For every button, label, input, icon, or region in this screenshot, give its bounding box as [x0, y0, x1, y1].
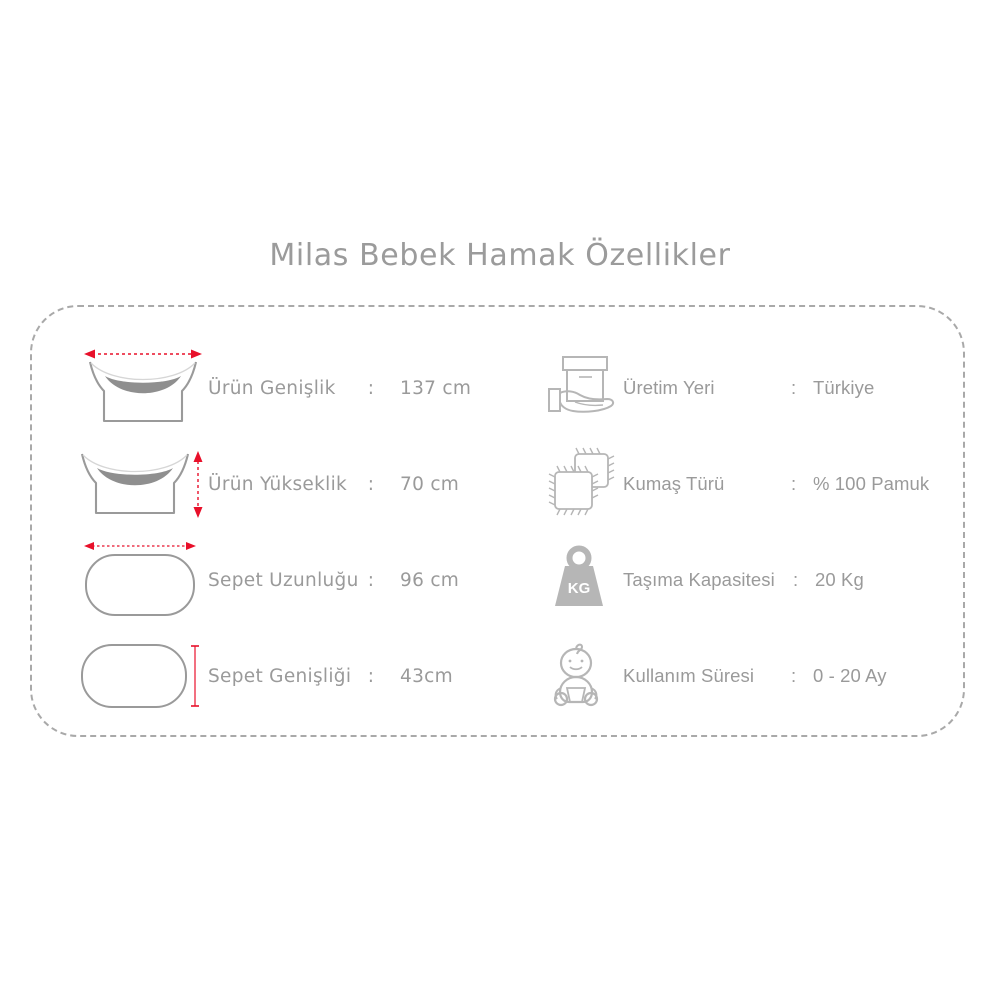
spec-separator: : [791, 377, 807, 399]
baby-icon [545, 636, 623, 716]
spec-text-kullanim-suresi: Kullanım Süresi : 0 - 20 Ay [623, 665, 887, 687]
spec-separator: : [360, 378, 382, 399]
spec-text-urun-yukseklik: Ürün Yükseklik : 70 cm [208, 474, 459, 495]
hammock-height-icon [78, 441, 208, 527]
spec-text-urun-genislik: Ürün Genişlik : 137 cm [208, 378, 471, 399]
spec-label: Ürün Yükseklik [208, 474, 360, 495]
spec-separator: : [360, 474, 382, 495]
spec-value: 137 cm [382, 378, 471, 399]
spec-value: % 100 Pamuk [807, 473, 929, 495]
spec-separator: : [360, 570, 382, 591]
spec-text-kumas-turu: Kumaş Türü : % 100 Pamuk [623, 473, 929, 495]
spec-label: Üretim Yeri [623, 377, 791, 399]
weight-kg-icon: KG [545, 540, 623, 620]
spec-value: 0 - 20 Ay [807, 665, 887, 687]
spec-text-sepet-uzunlugu: Sepet Uzunluğu : 96 cm [208, 570, 459, 591]
spec-separator: : [793, 569, 809, 591]
spec-label: Taşıma Kapasitesi [623, 569, 793, 591]
spec-column-right: Üretim Yeri : Türkiye [545, 340, 965, 724]
spec-separator: : [791, 473, 807, 495]
spec-row-tasima-kapasitesi: KG Taşıma Kapasitesi : 20 Kg [545, 532, 965, 628]
spec-label: Kumaş Türü [623, 473, 791, 495]
spec-text-tasima-kapasitesi: Taşıma Kapasitesi : 20 Kg [623, 569, 864, 591]
spec-separator: : [791, 665, 807, 687]
spec-row-urun-genislik: Ürün Genişlik : 137 cm [78, 340, 508, 436]
spec-text-sepet-genisligi: Sepet Genişliği : 43cm [208, 666, 453, 687]
page-title: Milas Bebek Hamak Özellikler [0, 238, 1000, 273]
spec-row-sepet-uzunlugu: Sepet Uzunluğu : 96 cm [78, 532, 508, 628]
spec-value: 43cm [382, 666, 453, 687]
spec-row-kullanim-suresi: Kullanım Süresi : 0 - 20 Ay [545, 628, 965, 724]
hammock-width-icon [78, 345, 208, 431]
spec-separator: : [360, 666, 382, 687]
product-spec-infographic: Milas Bebek Hamak Özellikler [0, 0, 1000, 1000]
spec-value: Türkiye [807, 377, 874, 399]
spec-row-sepet-genisligi: Sepet Genişliği : 43cm [78, 628, 508, 724]
spec-row-uretim-yeri: Üretim Yeri : Türkiye [545, 340, 965, 436]
spec-value: 96 cm [382, 570, 459, 591]
spec-column-left: Ürün Genişlik : 137 cm Ürü [78, 340, 508, 724]
spec-row-urun-yukseklik: Ürün Yükseklik : 70 cm [78, 436, 508, 532]
fabric-swatch-icon [545, 444, 623, 524]
spec-value: 20 Kg [809, 569, 864, 591]
box-on-hand-icon [545, 348, 623, 428]
spec-label: Kullanım Süresi [623, 665, 791, 687]
spec-row-kumas-turu: Kumaş Türü : % 100 Pamuk [545, 436, 965, 532]
spec-value: 70 cm [382, 474, 459, 495]
spec-text-uretim-yeri: Üretim Yeri : Türkiye [623, 377, 874, 399]
basket-length-icon [78, 537, 208, 623]
basket-width-icon [78, 633, 208, 719]
spec-label: Ürün Genişlik [208, 378, 360, 399]
spec-label: Sepet Uzunluğu [208, 570, 360, 591]
weight-icon-label: KG [568, 580, 591, 597]
spec-label: Sepet Genişliği [208, 666, 360, 687]
